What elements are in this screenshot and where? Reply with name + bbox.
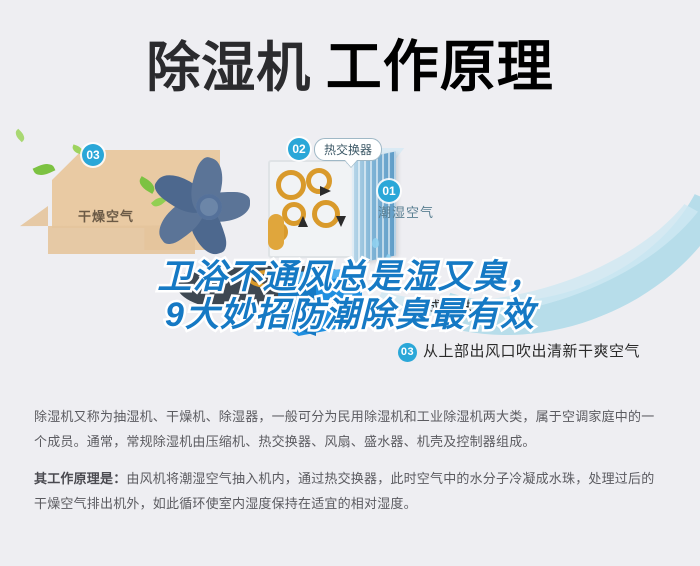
page-title-light: 除湿机 (146, 38, 311, 98)
body-paragraph-2-rest: 由风机将潮湿空气抽入机内，通过热交换器，此时空气中的水分子冷凝成水珠，处理过后的… (34, 471, 654, 511)
marker-badge-02: 02 (288, 138, 310, 160)
heat-exchanger-callout: 热交换器 (314, 138, 382, 161)
dry-air-label: 干燥空气 (78, 206, 134, 225)
caption-02-badge: 02 (402, 299, 421, 318)
caption-03: 03从上部出风口吹出清新干爽空气 (398, 340, 640, 362)
leaf-icon (33, 160, 56, 178)
water-droplet (362, 258, 368, 267)
body-paragraph-2: 其工作原理是：由风机将潮湿空气抽入机内，通过热交换器，此时空气中的水分子冷凝成水… (34, 466, 666, 516)
dehumidifier-diagram: 干燥空气 水箱 03 02 01 热交换器 潮湿空气 02成水珠 03从上部出风… (0, 118, 700, 403)
water-droplet (372, 238, 379, 248)
humid-air-label: 潮湿空气 (378, 202, 434, 221)
marker-badge-01: 01 (378, 180, 400, 202)
caption-02: 02成水珠 (402, 296, 474, 318)
refrigerant-flow-down-arrow (336, 216, 346, 227)
water-tank-label: 水箱 (314, 294, 342, 313)
body-paragraph-1: 除湿机又称为抽湿机、干燥机、除湿器，一般可分为民用除湿机和工业除湿机两大类，属于… (34, 404, 666, 454)
water-droplet (386, 254, 391, 262)
leaf-icon (13, 129, 26, 142)
refrigerant-flow-right-arrow (320, 186, 331, 196)
body-paragraph-2-lead: 其工作原理是： (34, 471, 126, 486)
article-body: 除湿机又称为抽湿机、干燥机、除湿器，一般可分为民用除湿机和工业除湿机两大类，属于… (0, 404, 700, 516)
compressor-cylinder (268, 214, 284, 250)
page-title: 除湿机 工作原理 (0, 22, 700, 103)
copper-tube-coil (276, 170, 306, 200)
page-title-bold: 工作原理 (326, 35, 554, 98)
marker-badge-03: 03 (82, 144, 104, 166)
caption-02-text: 成水珠 (427, 299, 474, 316)
fan-illustration (150, 148, 268, 260)
refrigerant-flow-up-arrow (298, 216, 308, 227)
fan-hub (196, 194, 222, 220)
caption-03-badge: 03 (398, 343, 417, 362)
caption-03-text: 从上部出风口吹出清新干爽空气 (423, 343, 640, 360)
